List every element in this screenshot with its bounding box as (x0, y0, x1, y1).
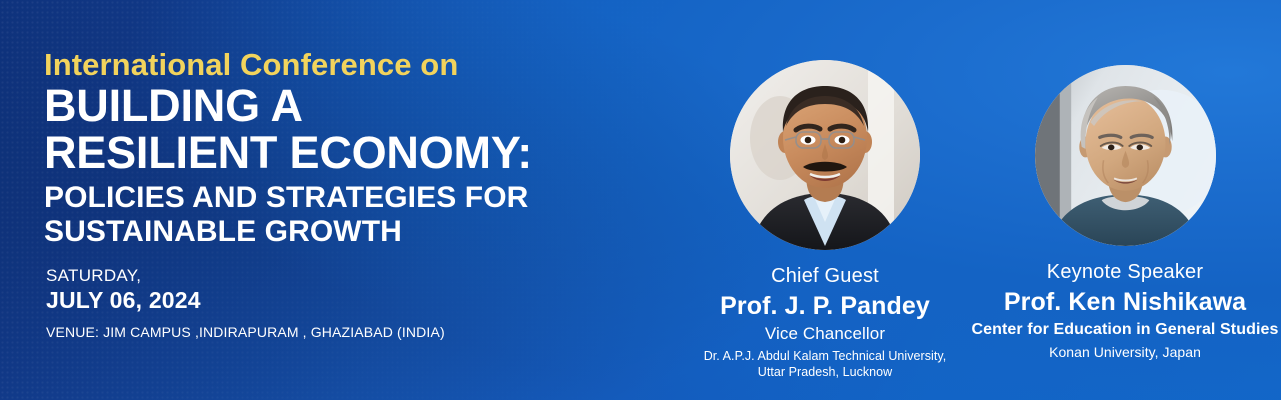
conference-subtitle-line-2: SUSTAINABLE GROWTH (44, 215, 644, 249)
conference-title: BUILDING A RESILIENT ECONOMY: (44, 83, 644, 176)
conference-subtitle: POLICIES AND STRATEGIES FOR SUSTAINABLE … (44, 181, 644, 248)
speaker-photo-chief-guest (730, 60, 920, 250)
conference-eyebrow: International Conference on (44, 48, 644, 81)
speaker-card-keynote-speaker: Keynote Speaker Prof. Ken Nishikawa Cent… (960, 55, 1281, 361)
speaker-name-chief-guest: Prof. J. P. Pandey (660, 291, 990, 321)
conference-banner: International Conference on BUILDING A R… (0, 0, 1281, 400)
speaker-affiliation-keynote-speaker: Konan University, Japan (960, 343, 1281, 361)
speaker-card-chief-guest: Chief Guest Prof. J. P. Pandey Vice Chan… (660, 55, 990, 380)
event-date: JULY 06, 2024 (46, 287, 566, 314)
speaker-designation-keynote-speaker: Center for Education in General Studies (960, 320, 1281, 340)
speaker-photo-keynote-speaker (1035, 65, 1216, 246)
affiliation-line: Dr. A.P.J. Abdul Kalam Technical Univers… (660, 348, 990, 364)
speaker-designation-chief-guest: Vice Chancellor (660, 324, 990, 345)
speaker-role-keynote-speaker: Keynote Speaker (960, 260, 1281, 284)
conference-subtitle-line-1: POLICIES AND STRATEGIES FOR (44, 181, 644, 215)
affiliation-line: Uttar Pradesh, Lucknow (660, 364, 990, 380)
conference-title-line-2: RESILIENT ECONOMY: (44, 130, 644, 176)
speakers-section: Chief Guest Prof. J. P. Pandey Vice Chan… (660, 55, 1260, 375)
date-venue-block: SATURDAY, JULY 06, 2024 VENUE: JIM CAMPU… (46, 266, 566, 341)
speaker-affiliation-chief-guest: Dr. A.P.J. Abdul Kalam Technical Univers… (660, 348, 990, 381)
affiliation-line: Konan University, Japan (960, 343, 1281, 361)
speaker-role-chief-guest: Chief Guest (660, 264, 990, 288)
speaker-name-keynote-speaker: Prof. Ken Nishikawa (960, 287, 1281, 317)
conference-title-line-1: BUILDING A (44, 83, 644, 129)
event-weekday: SATURDAY, (46, 266, 566, 286)
event-venue: VENUE: JIM CAMPUS ,INDIRAPURAM , GHAZIAB… (46, 324, 566, 341)
conference-title-block: International Conference on BUILDING A R… (44, 48, 644, 248)
